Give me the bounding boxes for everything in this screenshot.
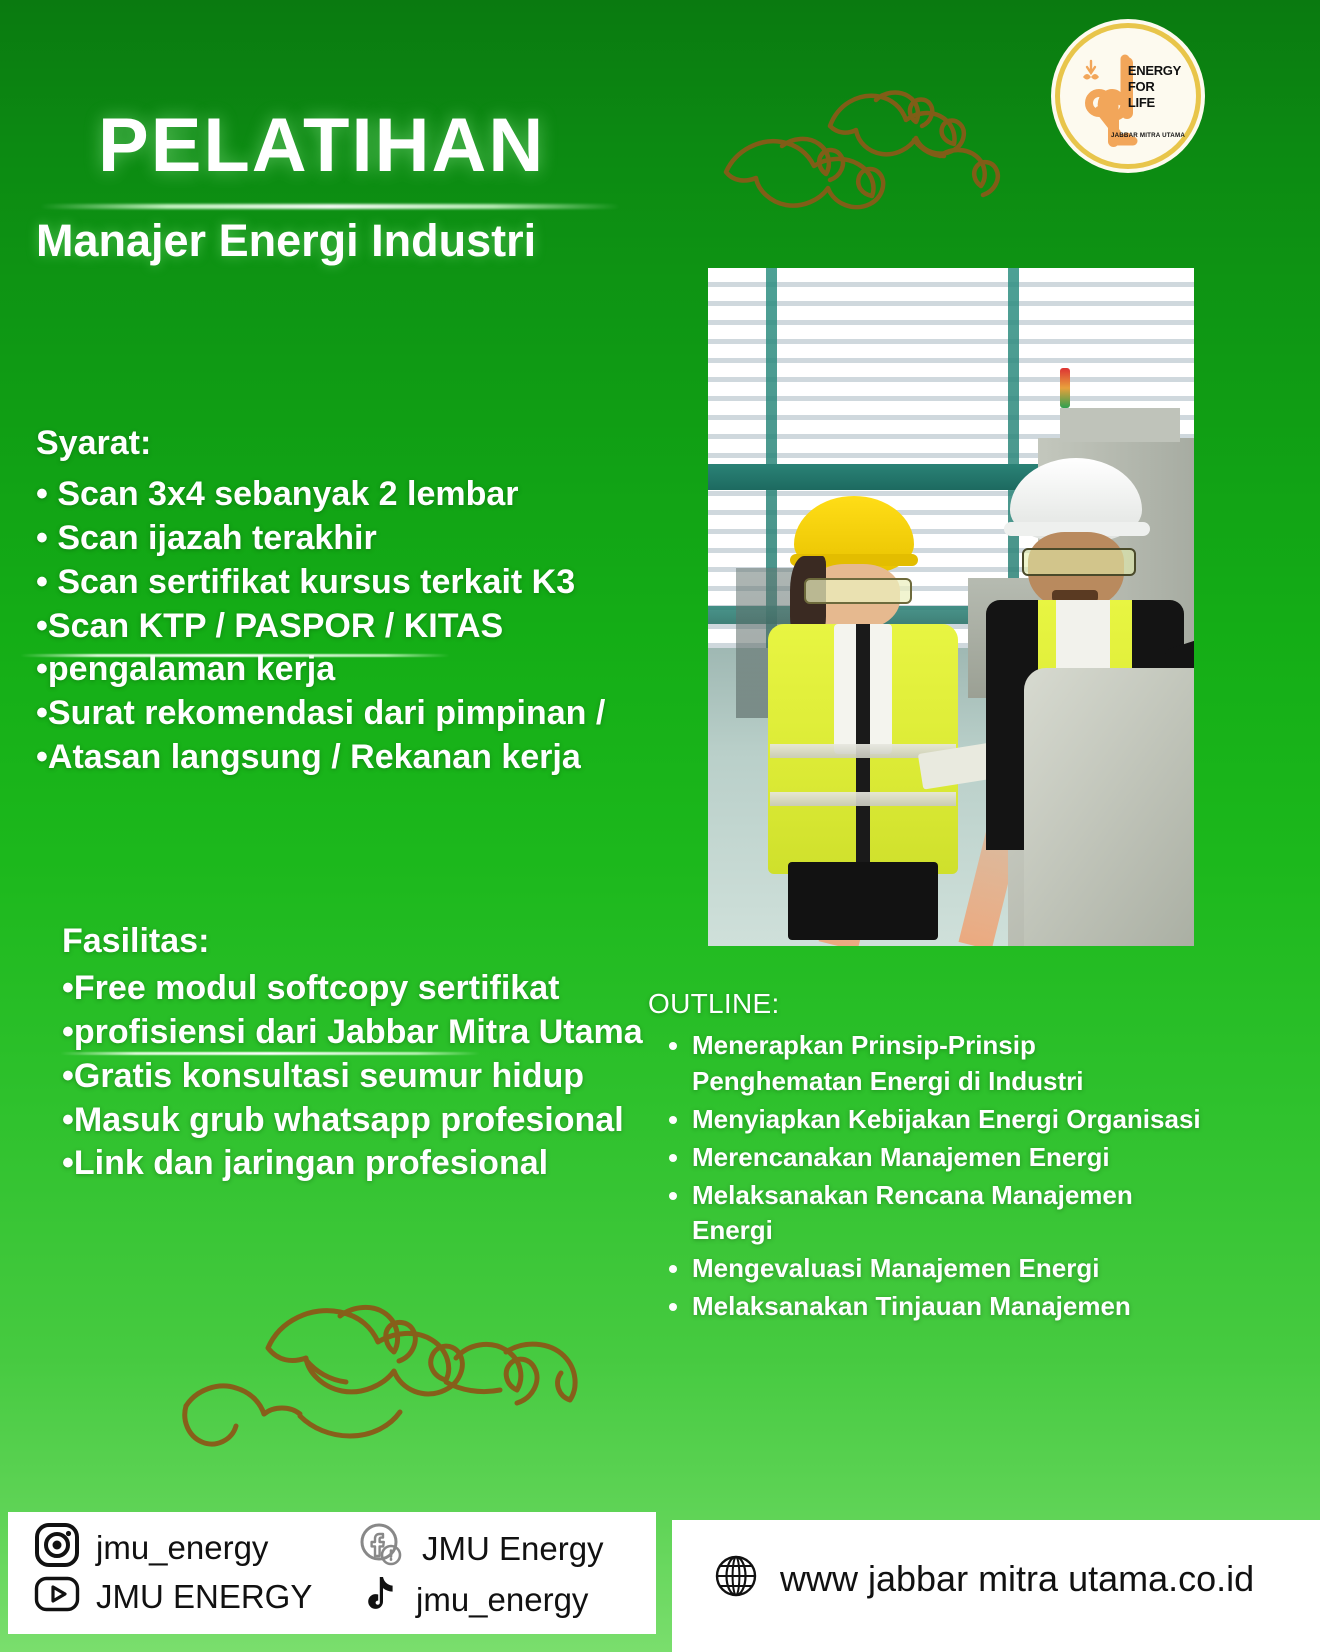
social-handle: JMU Energy — [422, 1530, 604, 1568]
underline-accent-ktp — [20, 654, 450, 657]
page-subtitle: Manajer Energi Industri — [36, 215, 536, 267]
list-item: •Atasan langsung / Rekanan kerja — [36, 736, 666, 780]
website-link[interactable]: www jabbar mitra utama.co.id — [712, 1552, 1254, 1605]
website-url: www jabbar mitra utama.co.id — [780, 1558, 1254, 1600]
list-item: •Link dan jaringan profesional — [62, 1142, 662, 1186]
page-title: PELATIHAN — [98, 108, 545, 184]
tiktok-icon — [358, 1574, 400, 1625]
globe-icon — [712, 1552, 760, 1605]
footer-social-panel: jmu_energy JMU ENERGY — [8, 1512, 656, 1634]
list-item: Melaksanakan Tinjauan Manajemen — [692, 1289, 1208, 1325]
outline-section: OUTLINE: Menerapkan Prinsip-Prinsip Peng… — [648, 988, 1208, 1327]
poster-root: PELATIHAN Manajer Energi Industri — [0, 0, 1320, 1652]
logo-line-1: ENERGY — [1128, 63, 1181, 79]
logo-company-name: JABBAR MITRA UTAMA — [1111, 132, 1185, 139]
training-photo — [708, 268, 1194, 946]
list-item: Merencanakan Manajemen Energi — [692, 1140, 1208, 1176]
logo-tagline: ENERGY FOR LIFE — [1128, 63, 1181, 111]
requirements-list: • Scan 3x4 sebanyak 2 lembar • Scan ijaz… — [36, 473, 666, 780]
list-item: •profisiensi dari Jabbar Mitra Utama — [62, 1011, 662, 1055]
list-item: • Scan 3x4 sebanyak 2 lembar — [36, 473, 666, 517]
instagram-icon — [34, 1522, 80, 1573]
list-item: Menyiapkan Kebijakan Energi Organisasi — [692, 1102, 1208, 1138]
facebook-icon — [358, 1522, 406, 1575]
social-handle: JMU ENERGY — [96, 1578, 312, 1616]
list-item: •Scan KTP / PASPOR / KITAS — [36, 605, 666, 649]
social-handle: jmu_energy — [96, 1529, 268, 1567]
social-youtube[interactable]: JMU ENERGY — [34, 1576, 312, 1617]
brand-logo: ENERGY FOR LIFE JABBAR MITRA UTAMA — [1060, 28, 1196, 164]
list-item: •Gratis konsultasi seumur hidup — [62, 1055, 662, 1099]
social-instagram[interactable]: jmu_energy — [34, 1522, 268, 1573]
social-handle: jmu_energy — [416, 1581, 588, 1619]
social-tiktok[interactable]: jmu_energy — [358, 1574, 588, 1625]
facilities-title: Fasilitas: — [62, 922, 662, 961]
youtube-icon — [34, 1576, 80, 1617]
list-item: Menerapkan Prinsip-Prinsip Penghematan E… — [692, 1028, 1208, 1100]
headline-glow-divider — [40, 204, 620, 209]
logo-line-2: FOR — [1128, 79, 1181, 95]
facilities-list: •Free modul softcopy sertifikat •profisi… — [62, 967, 662, 1186]
outline-list: Menerapkan Prinsip-Prinsip Penghematan E… — [648, 1028, 1208, 1325]
social-facebook[interactable]: JMU Energy — [358, 1522, 604, 1575]
list-item: •Free modul softcopy sertifikat — [62, 967, 662, 1011]
logo-line-3: LIFE — [1128, 95, 1181, 111]
batik-cloud-top-icon — [678, 38, 1028, 238]
list-item: Mengevaluasi Manajemen Energi — [692, 1251, 1208, 1287]
outline-title: OUTLINE: — [648, 988, 1208, 1020]
list-item: • Scan ijazah terakhir — [36, 517, 666, 561]
list-item: •Surat rekomendasi dari pimpinan / — [36, 692, 666, 736]
requirements-title: Syarat: — [36, 424, 666, 463]
requirements-section: Syarat: • Scan 3x4 sebanyak 2 lembar • S… — [36, 424, 666, 780]
list-item: • Scan sertifikat kursus terkait K3 — [36, 561, 666, 605]
footer-website-panel: www jabbar mitra utama.co.id — [672, 1520, 1320, 1652]
list-item: Melaksanakan Rencana Manajemen Energi — [692, 1178, 1208, 1250]
underline-accent-profisiensi — [60, 1052, 480, 1055]
list-item: •Masuk grub whatsapp profesional — [62, 1099, 662, 1143]
footer: jmu_energy JMU ENERGY — [0, 1506, 1320, 1652]
batik-cloud-bottom-icon — [160, 1230, 630, 1460]
